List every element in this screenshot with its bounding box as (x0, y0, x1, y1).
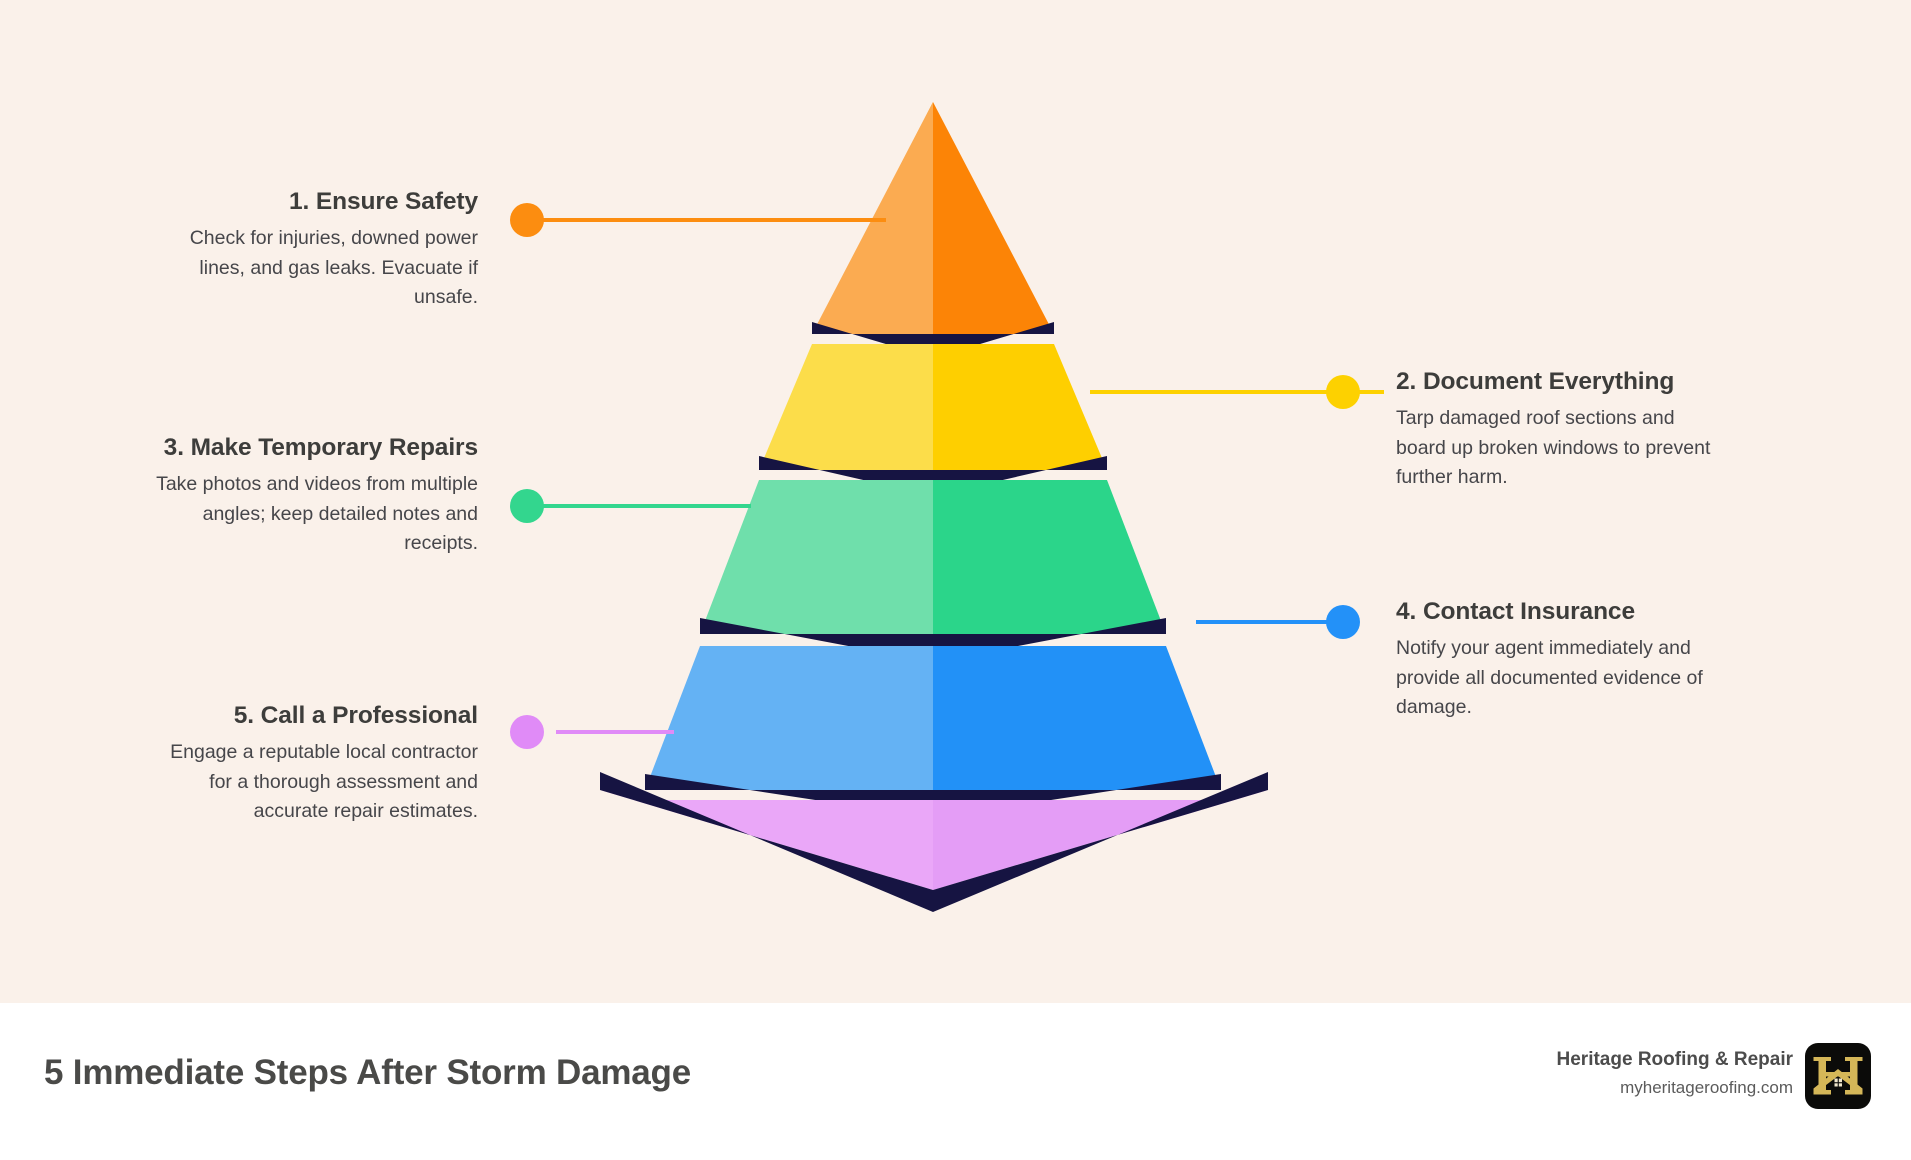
connector-line-3 (539, 504, 751, 508)
brand-logo[interactable] (1805, 1043, 1871, 1109)
step-3-title: 3. Make Temporary Repairs (148, 432, 478, 463)
step-2-title: 2. Document Everything (1396, 366, 1726, 397)
pyramid-tier-3[interactable] (700, 480, 1166, 662)
pyramid-tier-4-left (645, 646, 933, 790)
connector-line-4 (1196, 620, 1330, 624)
connector-dot-4[interactable] (1326, 605, 1360, 639)
step-2-description: Tarp damaged roof sections and board up … (1396, 404, 1726, 493)
step-label-1[interactable]: 1. Ensure Safety Check for injuries, dow… (148, 186, 478, 313)
pyramid-tier-1[interactable] (812, 102, 1054, 358)
step-4-description: Notify your agent immediately and provid… (1396, 634, 1726, 723)
step-label-4[interactable]: 4. Contact Insurance Notify your agent i… (1396, 596, 1726, 723)
connector-line-5 (556, 730, 674, 734)
infographic-stage: 1. Ensure Safety Check for injuries, dow… (0, 0, 1911, 1003)
step-5-title: 5. Call a Professional (148, 700, 478, 731)
connector-dot-1[interactable] (510, 203, 544, 237)
step-label-2[interactable]: 2. Document Everything Tarp damaged roof… (1396, 366, 1726, 493)
pyramid-tier-4[interactable] (645, 646, 1221, 818)
pyramid-tier-3-right (933, 480, 1166, 634)
pyramid-tier-2-left (759, 344, 933, 470)
connector-dot-5[interactable] (510, 715, 544, 749)
connector-dot-2[interactable] (1326, 375, 1360, 409)
heritage-h-house-icon (1805, 1043, 1871, 1109)
step-label-3[interactable]: 3. Make Temporary Repairs Take photos an… (148, 432, 478, 559)
step-1-title: 1. Ensure Safety (148, 186, 478, 217)
pyramid-tier-4-right (933, 646, 1221, 790)
brand-text-block: Heritage Roofing & Repair myheritageroof… (1557, 1047, 1793, 1100)
infographic-title: 5 Immediate Steps After Storm Damage (44, 1053, 691, 1093)
brand-name: Heritage Roofing & Repair (1557, 1047, 1793, 1073)
step-1-description: Check for injuries, downed power lines, … (148, 224, 478, 313)
step-5-description: Engage a reputable local contractor for … (148, 738, 478, 827)
pyramid-tier-2-right (933, 344, 1107, 470)
step-3-description: Take photos and videos from multiple ang… (148, 470, 478, 559)
brand-url: myheritageroofing.com (1557, 1076, 1793, 1101)
infographic-canvas: 1. Ensure Safety Check for injuries, dow… (0, 0, 1911, 1160)
pyramid-tier-1-right (933, 102, 1054, 334)
step-4-title: 4. Contact Insurance (1396, 596, 1726, 627)
connector-line-1 (539, 218, 886, 222)
connector-dot-3[interactable] (510, 489, 544, 523)
footer-bar: 5 Immediate Steps After Storm Damage Her… (0, 1003, 1911, 1160)
pyramid-tier-2[interactable] (759, 344, 1107, 496)
step-label-5[interactable]: 5. Call a Professional Engage a reputabl… (148, 700, 478, 827)
